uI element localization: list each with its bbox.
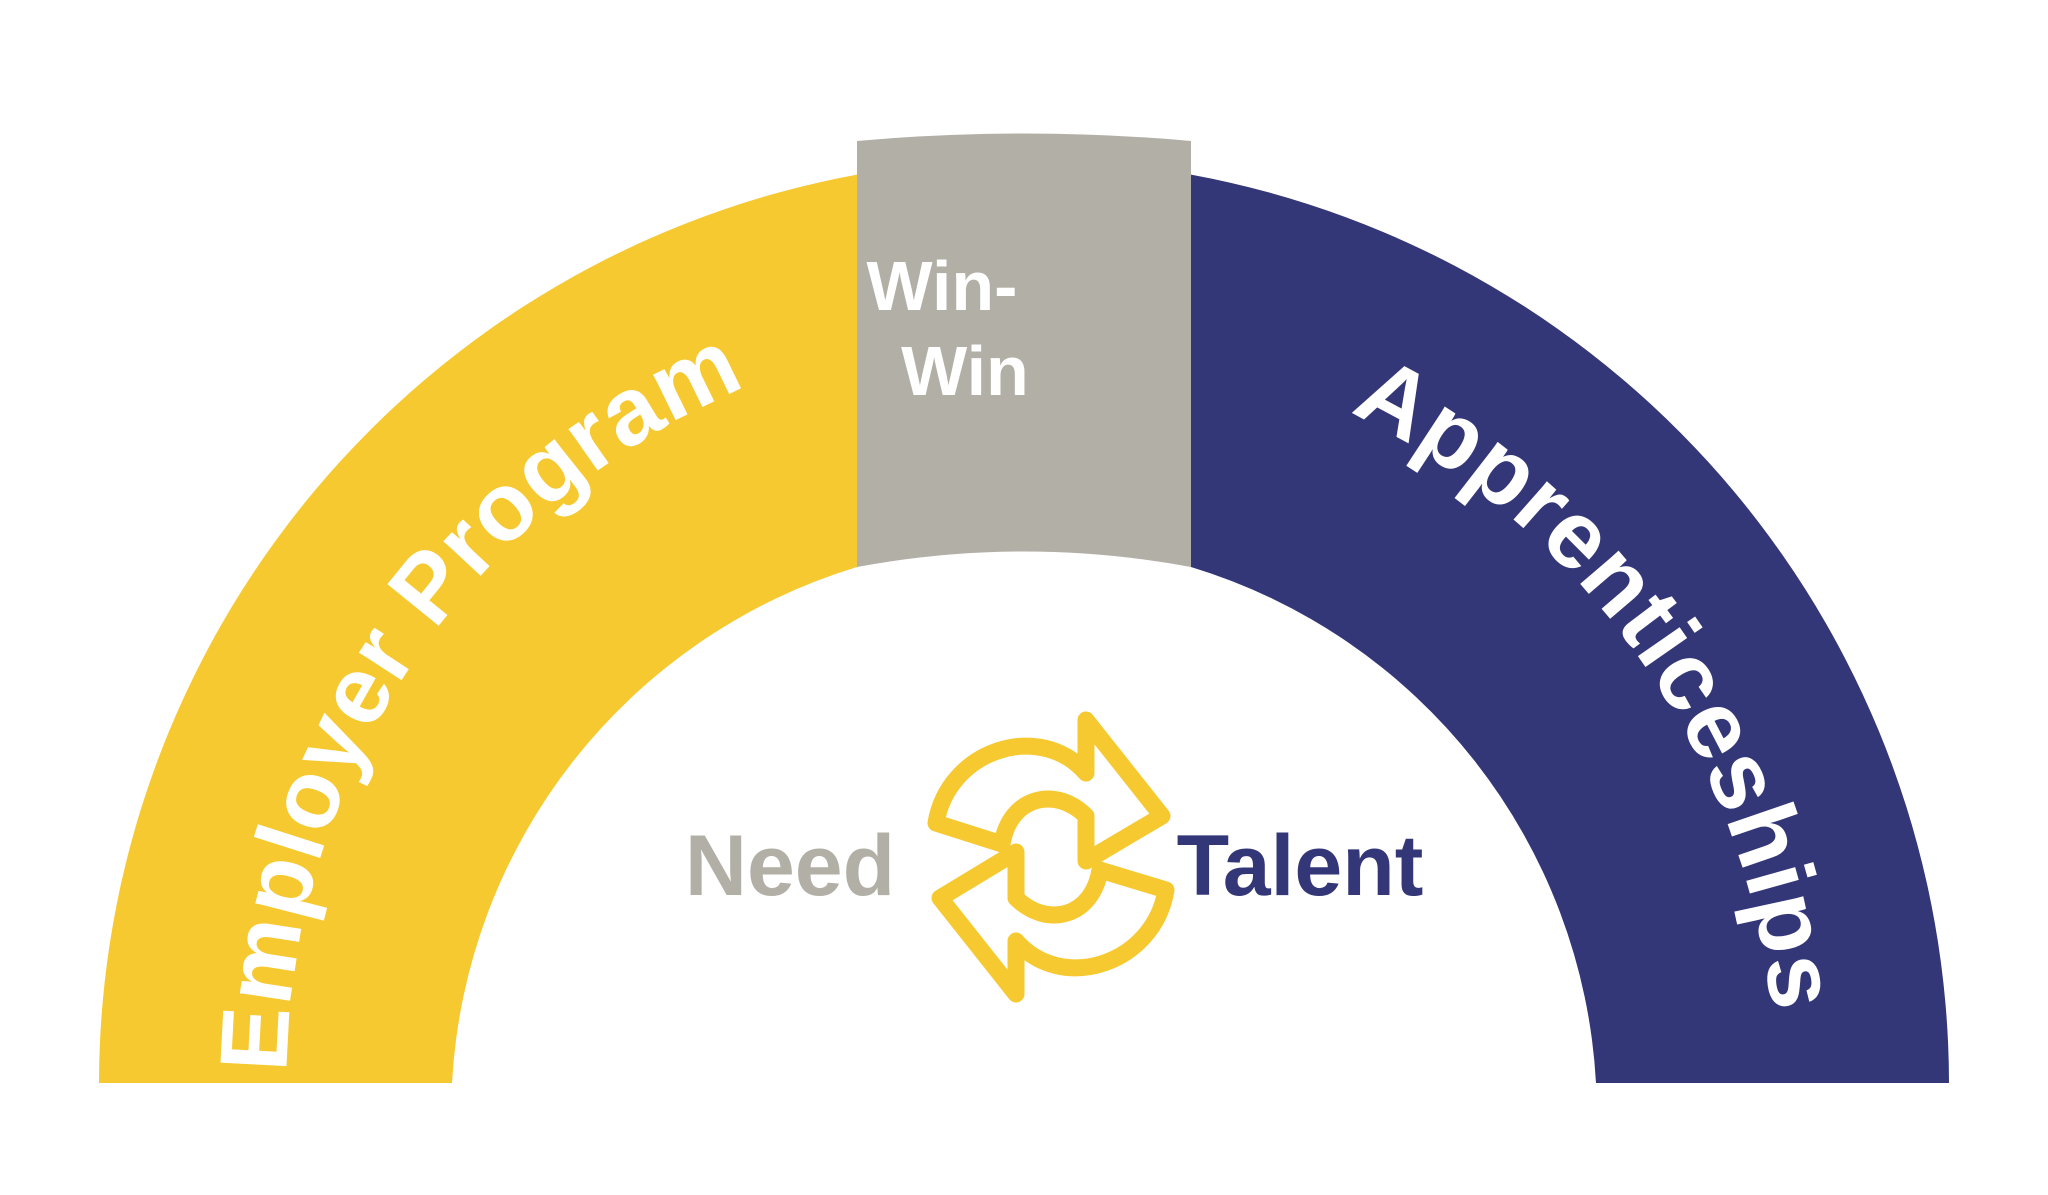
keystone-label-line1: Win- [867,247,1018,325]
arch-diagram: Employer Program Apprenticeships Win- Wi… [0,0,2048,1195]
keystone-label-line2: Win [901,332,1029,410]
need-label: Need [685,818,895,914]
keystone-segment[interactable]: Win- Win [857,134,1191,568]
exchange-arrow-bottom [940,852,1166,994]
exchange-arrow-top [936,720,1162,861]
diagram-canvas: Employer Program Apprenticeships Win- Wi… [0,0,2048,1195]
left-arc-segment[interactable]: Employer Program [99,175,857,1083]
talent-label: Talent [1177,818,1424,914]
right-arc-shape [1191,175,1949,1083]
right-arc-segment[interactable]: Apprenticeships [1191,175,1949,1083]
exchange-arrows-icon [936,720,1166,994]
